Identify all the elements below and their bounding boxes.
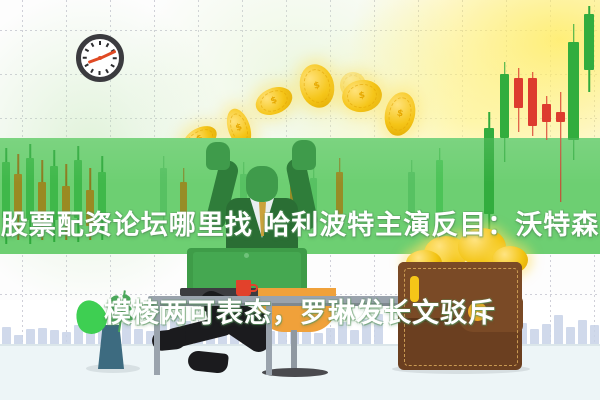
clock-center-hub (98, 56, 102, 60)
desk-leg-right (266, 303, 272, 375)
desk-top (148, 296, 408, 303)
coin-icon: $ (340, 77, 384, 114)
coffee-mug (236, 280, 251, 296)
person-legs (150, 300, 330, 380)
wallet-clasp-button (468, 302, 487, 321)
wall-clock-icon (76, 34, 124, 82)
laptop-camera-dot (244, 253, 249, 258)
wallet-stitching (404, 268, 518, 366)
person-head (246, 166, 278, 202)
illustration-canvas: $ $ $ $ $ $ (0, 0, 600, 400)
desk-top-shadow (148, 303, 408, 306)
person-left-hand (206, 142, 230, 170)
desk-leg-left (154, 303, 160, 375)
plant-stem-group (108, 290, 148, 332)
person-right-hand (292, 140, 316, 170)
coffee-mug-handle (250, 284, 258, 292)
